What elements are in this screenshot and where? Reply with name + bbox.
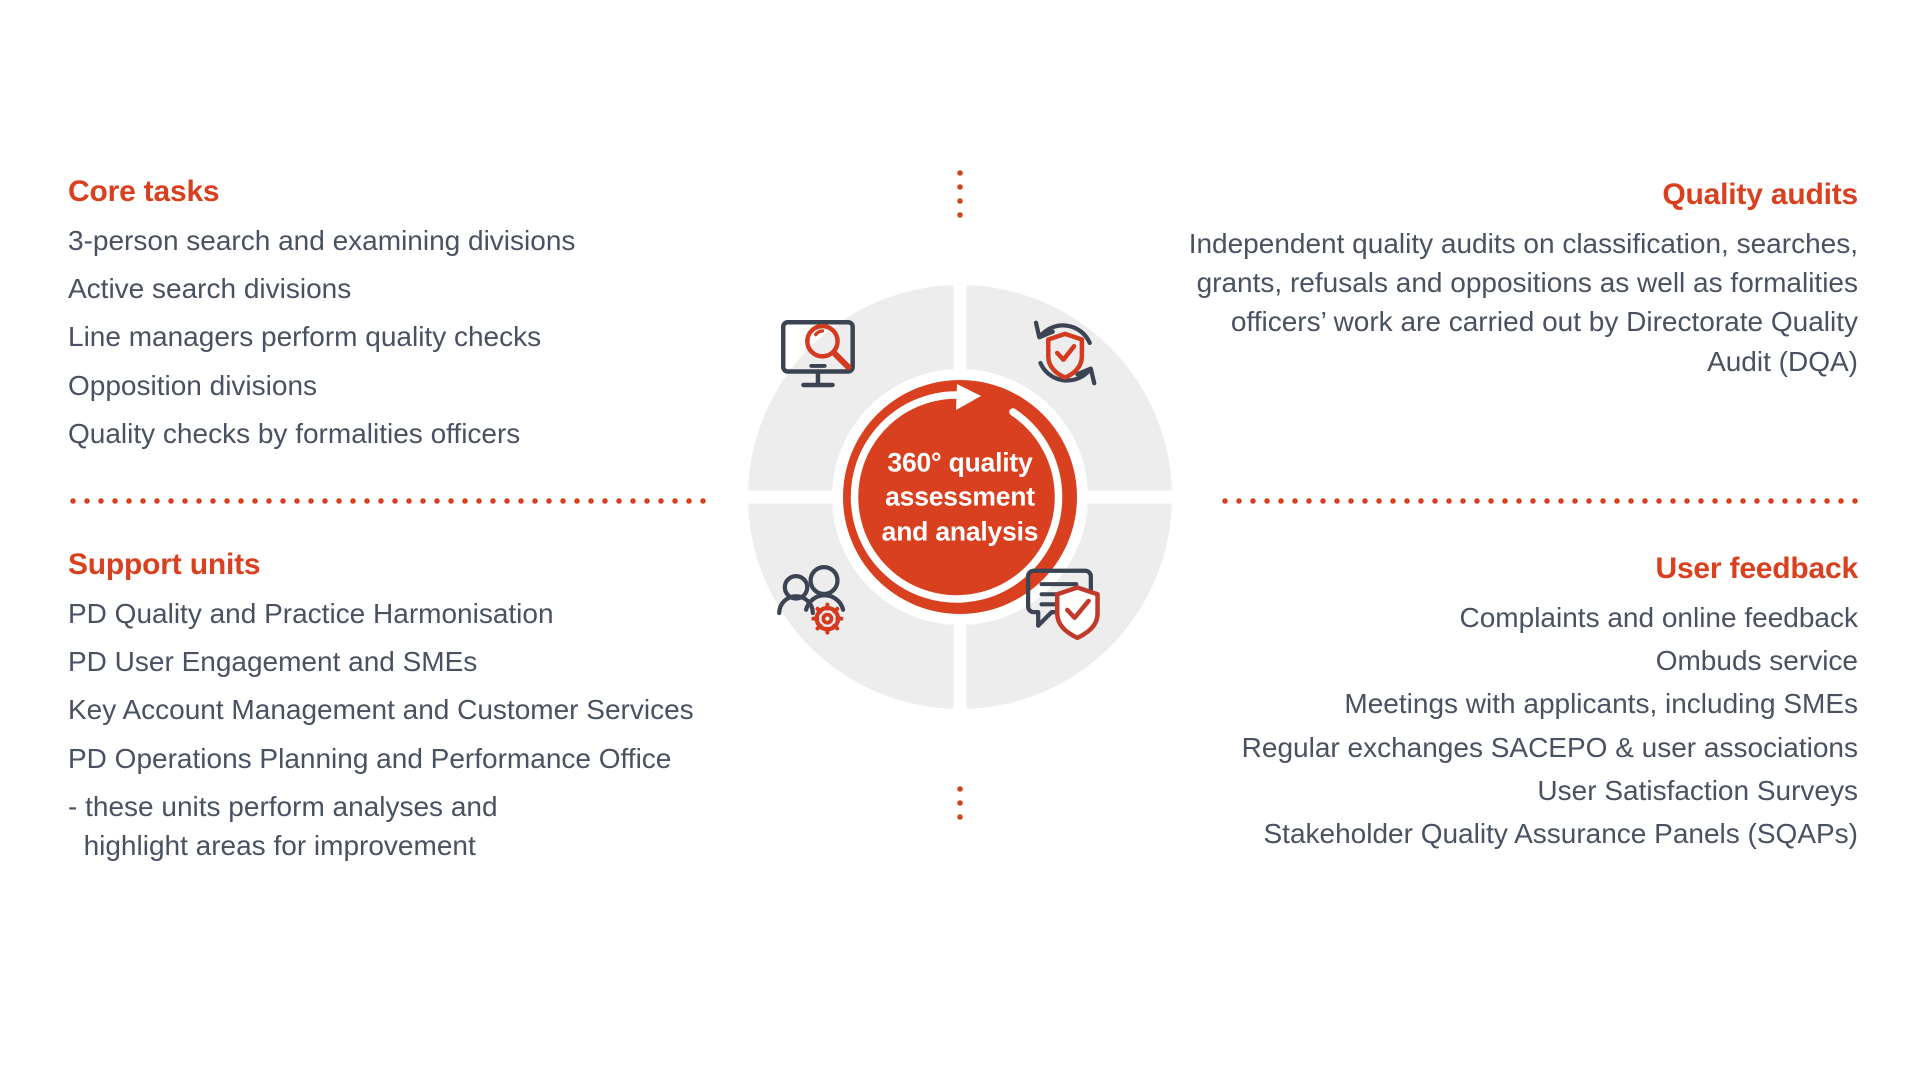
- user-feedback-line-5: User Satisfaction Surveys: [1138, 771, 1858, 810]
- user-feedback-line-2: Ombuds service: [1138, 641, 1858, 680]
- support-units-line-3: Key Account Management and Customer Serv…: [68, 690, 788, 729]
- quadrant-user-feedback: User feedback Complaints and online feed…: [1138, 552, 1858, 857]
- dotted-divider-top: [957, 166, 964, 222]
- support-units-title: Support units: [68, 548, 788, 581]
- user-feedback-line-6: Stakeholder Quality Assurance Panels (SQ…: [1138, 814, 1858, 853]
- core-tasks-line-1: 3-person search and examining divisions: [68, 221, 768, 260]
- core-tasks-line-5: Quality checks by formalities officers: [68, 414, 768, 453]
- quadrant-support-units: Support units PD Quality and Practice Ha…: [68, 548, 788, 874]
- core-tasks-line-2: Active search divisions: [68, 269, 768, 308]
- diagram-canvas: Core tasks 3-person search and examining…: [0, 0, 1920, 1080]
- user-feedback-title: User feedback: [1138, 552, 1858, 585]
- user-feedback-line-4: Regular exchanges SACEPO & user associat…: [1138, 728, 1858, 767]
- dotted-divider-bottom: [957, 782, 964, 824]
- support-units-line-5: - these units perform analyses and highl…: [68, 787, 788, 865]
- support-units-line-1: PD Quality and Practice Harmonisation: [68, 594, 788, 633]
- core-tasks-line-3: Line managers perform quality checks: [68, 317, 768, 356]
- dotted-divider-right: [1218, 498, 1858, 504]
- quality-audits-title: Quality audits: [1178, 178, 1858, 211]
- central-hub: 360° quality assessment and analysis: [695, 232, 1225, 762]
- quality-audits-paragraph: Independent quality audits on classifica…: [1178, 224, 1858, 381]
- user-feedback-line-3: Meetings with applicants, including SMEs: [1138, 684, 1858, 723]
- quadrant-quality-audits: Quality audits Independent quality audit…: [1178, 178, 1858, 390]
- core-tasks-line-4: Opposition divisions: [68, 366, 768, 405]
- quadrant-core-tasks: Core tasks 3-person search and examining…: [68, 175, 768, 462]
- user-feedback-line-1: Complaints and online feedback: [1138, 598, 1858, 637]
- center-disc: [843, 380, 1077, 614]
- dotted-divider-left: [66, 498, 706, 504]
- support-units-line-4: PD Operations Planning and Performance O…: [68, 739, 788, 778]
- support-units-line-2: PD User Engagement and SMEs: [68, 642, 788, 681]
- core-tasks-title: Core tasks: [68, 175, 768, 208]
